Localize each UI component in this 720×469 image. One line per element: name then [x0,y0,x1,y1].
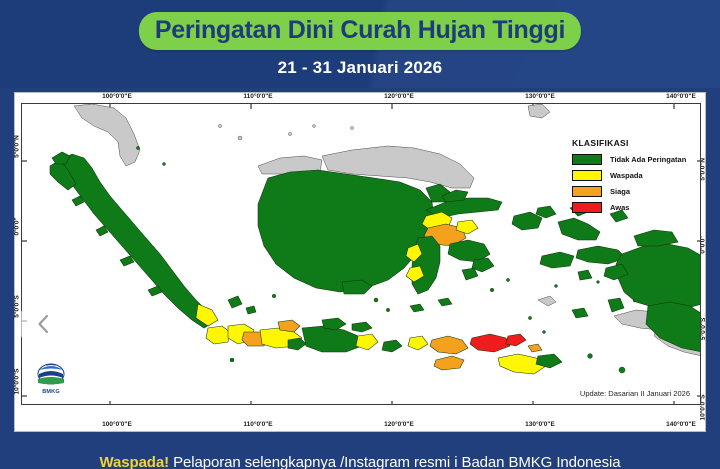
lon-label-top-3: 130°0'0"E [525,93,555,100]
legend-title: KLASIFIKASI [572,138,696,148]
legend-item-siaga: Siaga [556,186,696,197]
bmkg-emblem-icon [34,360,68,390]
date-range-label: 21 - 31 Januari 2026 [0,58,720,78]
region-sumatra [50,152,256,328]
legend-swatch-1 [572,170,602,181]
region-java [206,318,402,352]
bmkg-logo: BMKG [34,360,68,394]
lon-label-top-2: 120°0'0"E [384,93,414,100]
page-title-badge: Peringatan Dini Curah Hujan Tinggi [139,12,581,50]
chevron-left-icon [33,313,55,335]
map-update-note: Update: Dasarian II Januari 2026 [580,389,690,398]
footer-warning-word: Waspada! [100,454,170,469]
lon-label-bottom-0: 100°0'0"E [102,421,132,428]
page-title: Peringatan Dini Curah Hujan Tinggi [155,15,565,45]
legend-swatch-2 [572,186,602,197]
footer-caption: Waspada! Pelaporan selengkapnya /Instagr… [0,454,720,469]
lon-label-top-1: 110°0'0"E [243,93,272,100]
legend-swatch-3 [572,202,602,213]
lon-label-top-0: 100°0'0"E [102,93,132,100]
region-nusa-tenggara [408,334,562,374]
lon-label-bottom-3: 130°0'0"E [525,421,555,428]
lon-label-bottom-1: 110°0'0"E [243,421,272,428]
weather-warning-slide: Peringatan Dini Curah Hujan Tinggi 21 - … [0,0,720,469]
minor-islands-grey [218,124,353,140]
legend-item-awas: Awas [556,202,696,213]
legend-item-waspada: Waspada [556,170,696,181]
legend-label-1: Waspada [610,171,643,180]
footer-strip: Waspada! Pelaporan selengkapnya /Instagr… [0,432,720,469]
region-papua [604,230,701,352]
map-legend: KLASIFIKASI Tidak Ada Peringatan Waspada… [556,138,696,218]
lat-label-left-0: 5°0'0"N [14,135,21,158]
lon-label-bottom-4: 140°0'0"E [666,421,696,428]
slide-header: Peringatan Dini Curah Hujan Tinggi 21 - … [0,0,720,88]
indonesia-warning-map[interactable]: KLASIFIKASI Tidak Ada Peringatan Waspada… [21,103,701,405]
legend-label-2: Siaga [610,187,630,196]
legend-label-0: Tidak Ada Peringatan [610,155,686,164]
lat-label-left-3: 10°0'0"S [14,368,21,394]
map-card: 100°0'0"E 110°0'0"E 120°0'0"E 130°0'0"E … [14,92,706,432]
footer-caption-text: Pelaporan selengkapnya /Instagram resmi … [169,454,620,469]
legend-item-tidak-ada-peringatan: Tidak Ada Peringatan [556,154,696,165]
carousel-prev-button[interactable] [18,298,70,350]
lat-label-left-1: 0°0'0" [14,217,21,235]
bmkg-logo-label: BMKG [34,389,68,395]
lon-label-bottom-2: 120°0'0"E [384,421,414,428]
legend-swatch-0 [572,154,602,165]
lon-label-top-4: 140°0'0"E [666,93,696,100]
legend-label-3: Awas [610,203,629,212]
